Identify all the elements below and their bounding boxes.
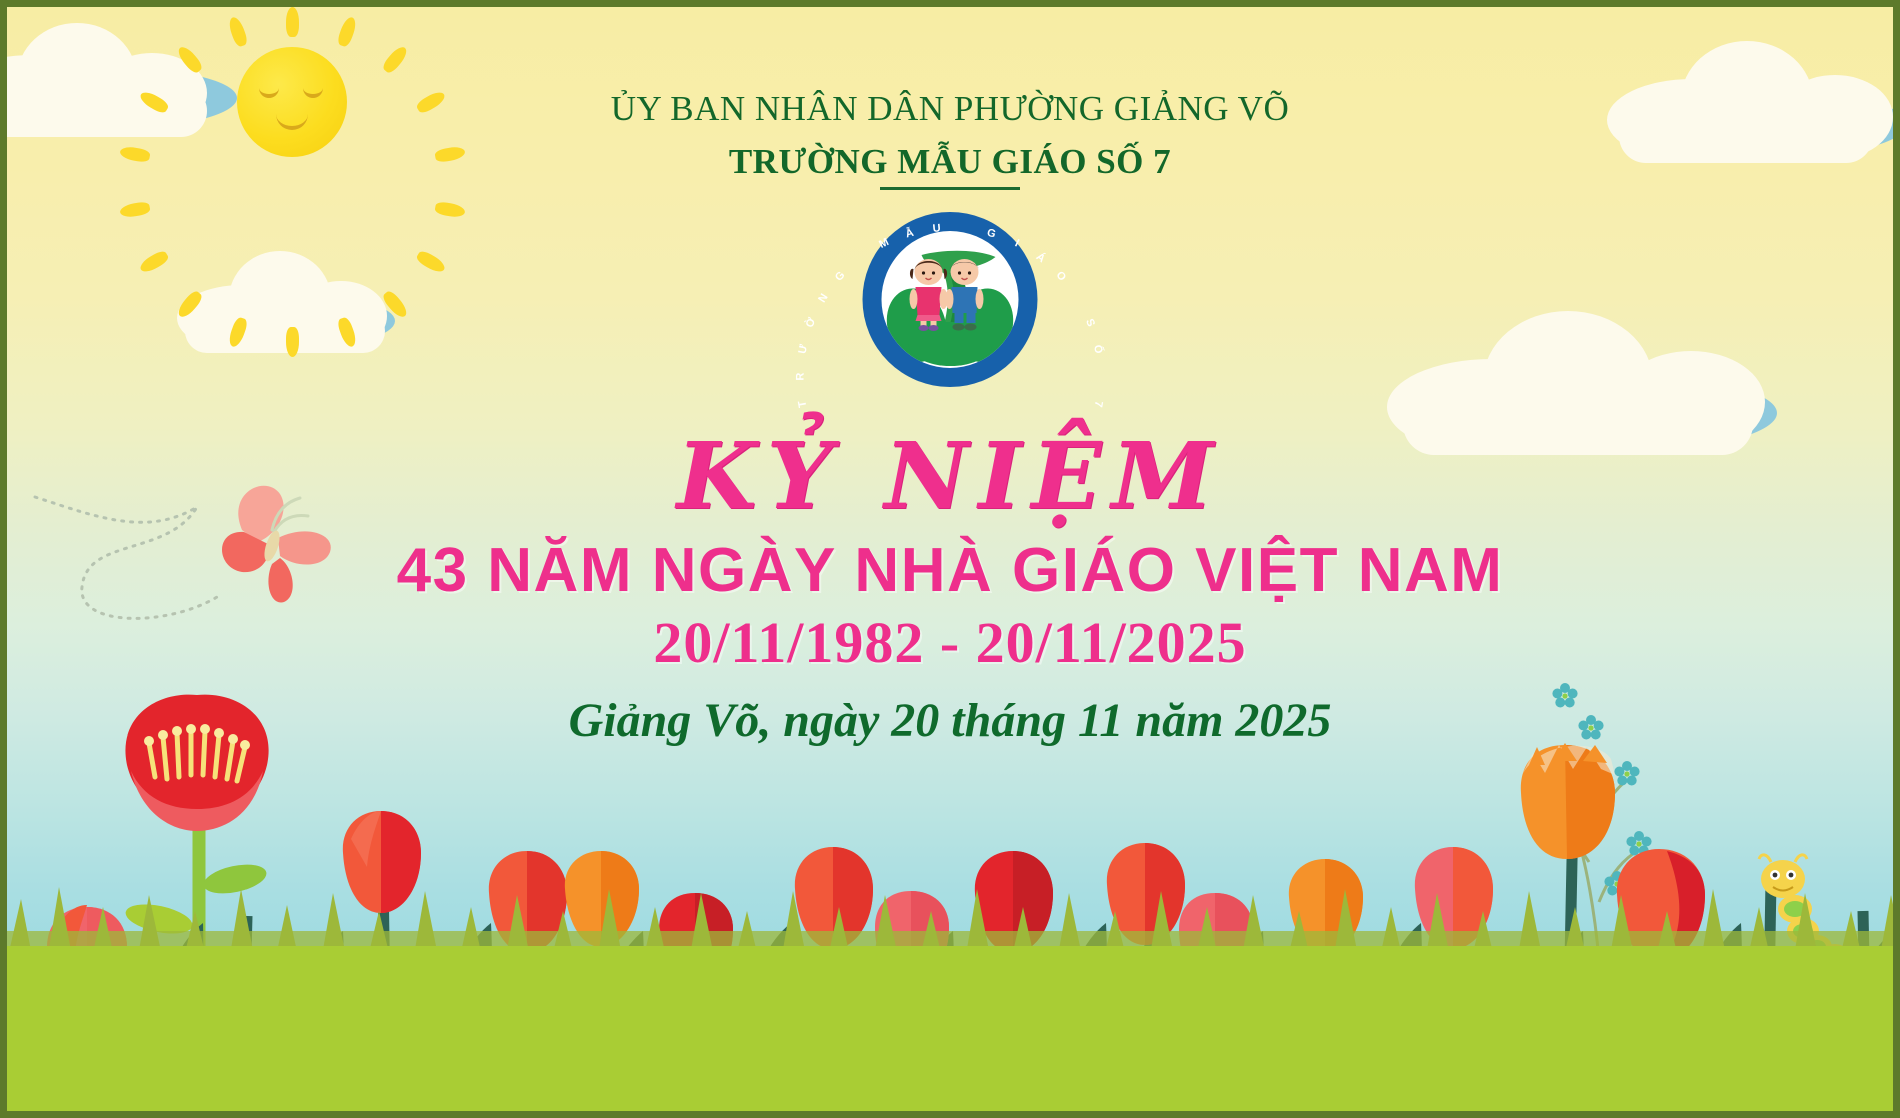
logo-ring-char: Ố (1091, 343, 1104, 354)
logo-child-boy (944, 257, 986, 331)
organization-line-2: TRƯỜNG MẪU GIÁO SỐ 7 (7, 142, 1893, 182)
logo-inner (882, 231, 1019, 368)
grass-band (7, 946, 1893, 1111)
logo-ring-char: I (1012, 237, 1020, 249)
pink-butterfly (202, 472, 352, 612)
logo-ring-char: G (985, 226, 997, 240)
logo-ring-char: 7 (1091, 399, 1104, 407)
organization-line-1: ỦY BAN NHÂN DÂN PHƯỜNG GIẢNG VÕ (7, 89, 1893, 129)
teachers-day-banner: ỦY BAN NHÂN DÂN PHƯỜNG GIẢNG VÕ TRƯỜNG M… (0, 0, 1900, 1118)
tulip-flower-open (1521, 743, 1615, 859)
logo-ring-char: T (796, 399, 809, 408)
logo-ring-char: R (794, 372, 806, 380)
school-logo: TRƯỜNG MẪU GIÁO SỐ 7 (863, 212, 1038, 387)
logo-ring-char: Ẫ (904, 226, 915, 240)
header-underline (880, 187, 1020, 190)
logo-ring-char: Ư (796, 343, 810, 354)
logo-ring-char: M (877, 236, 891, 251)
